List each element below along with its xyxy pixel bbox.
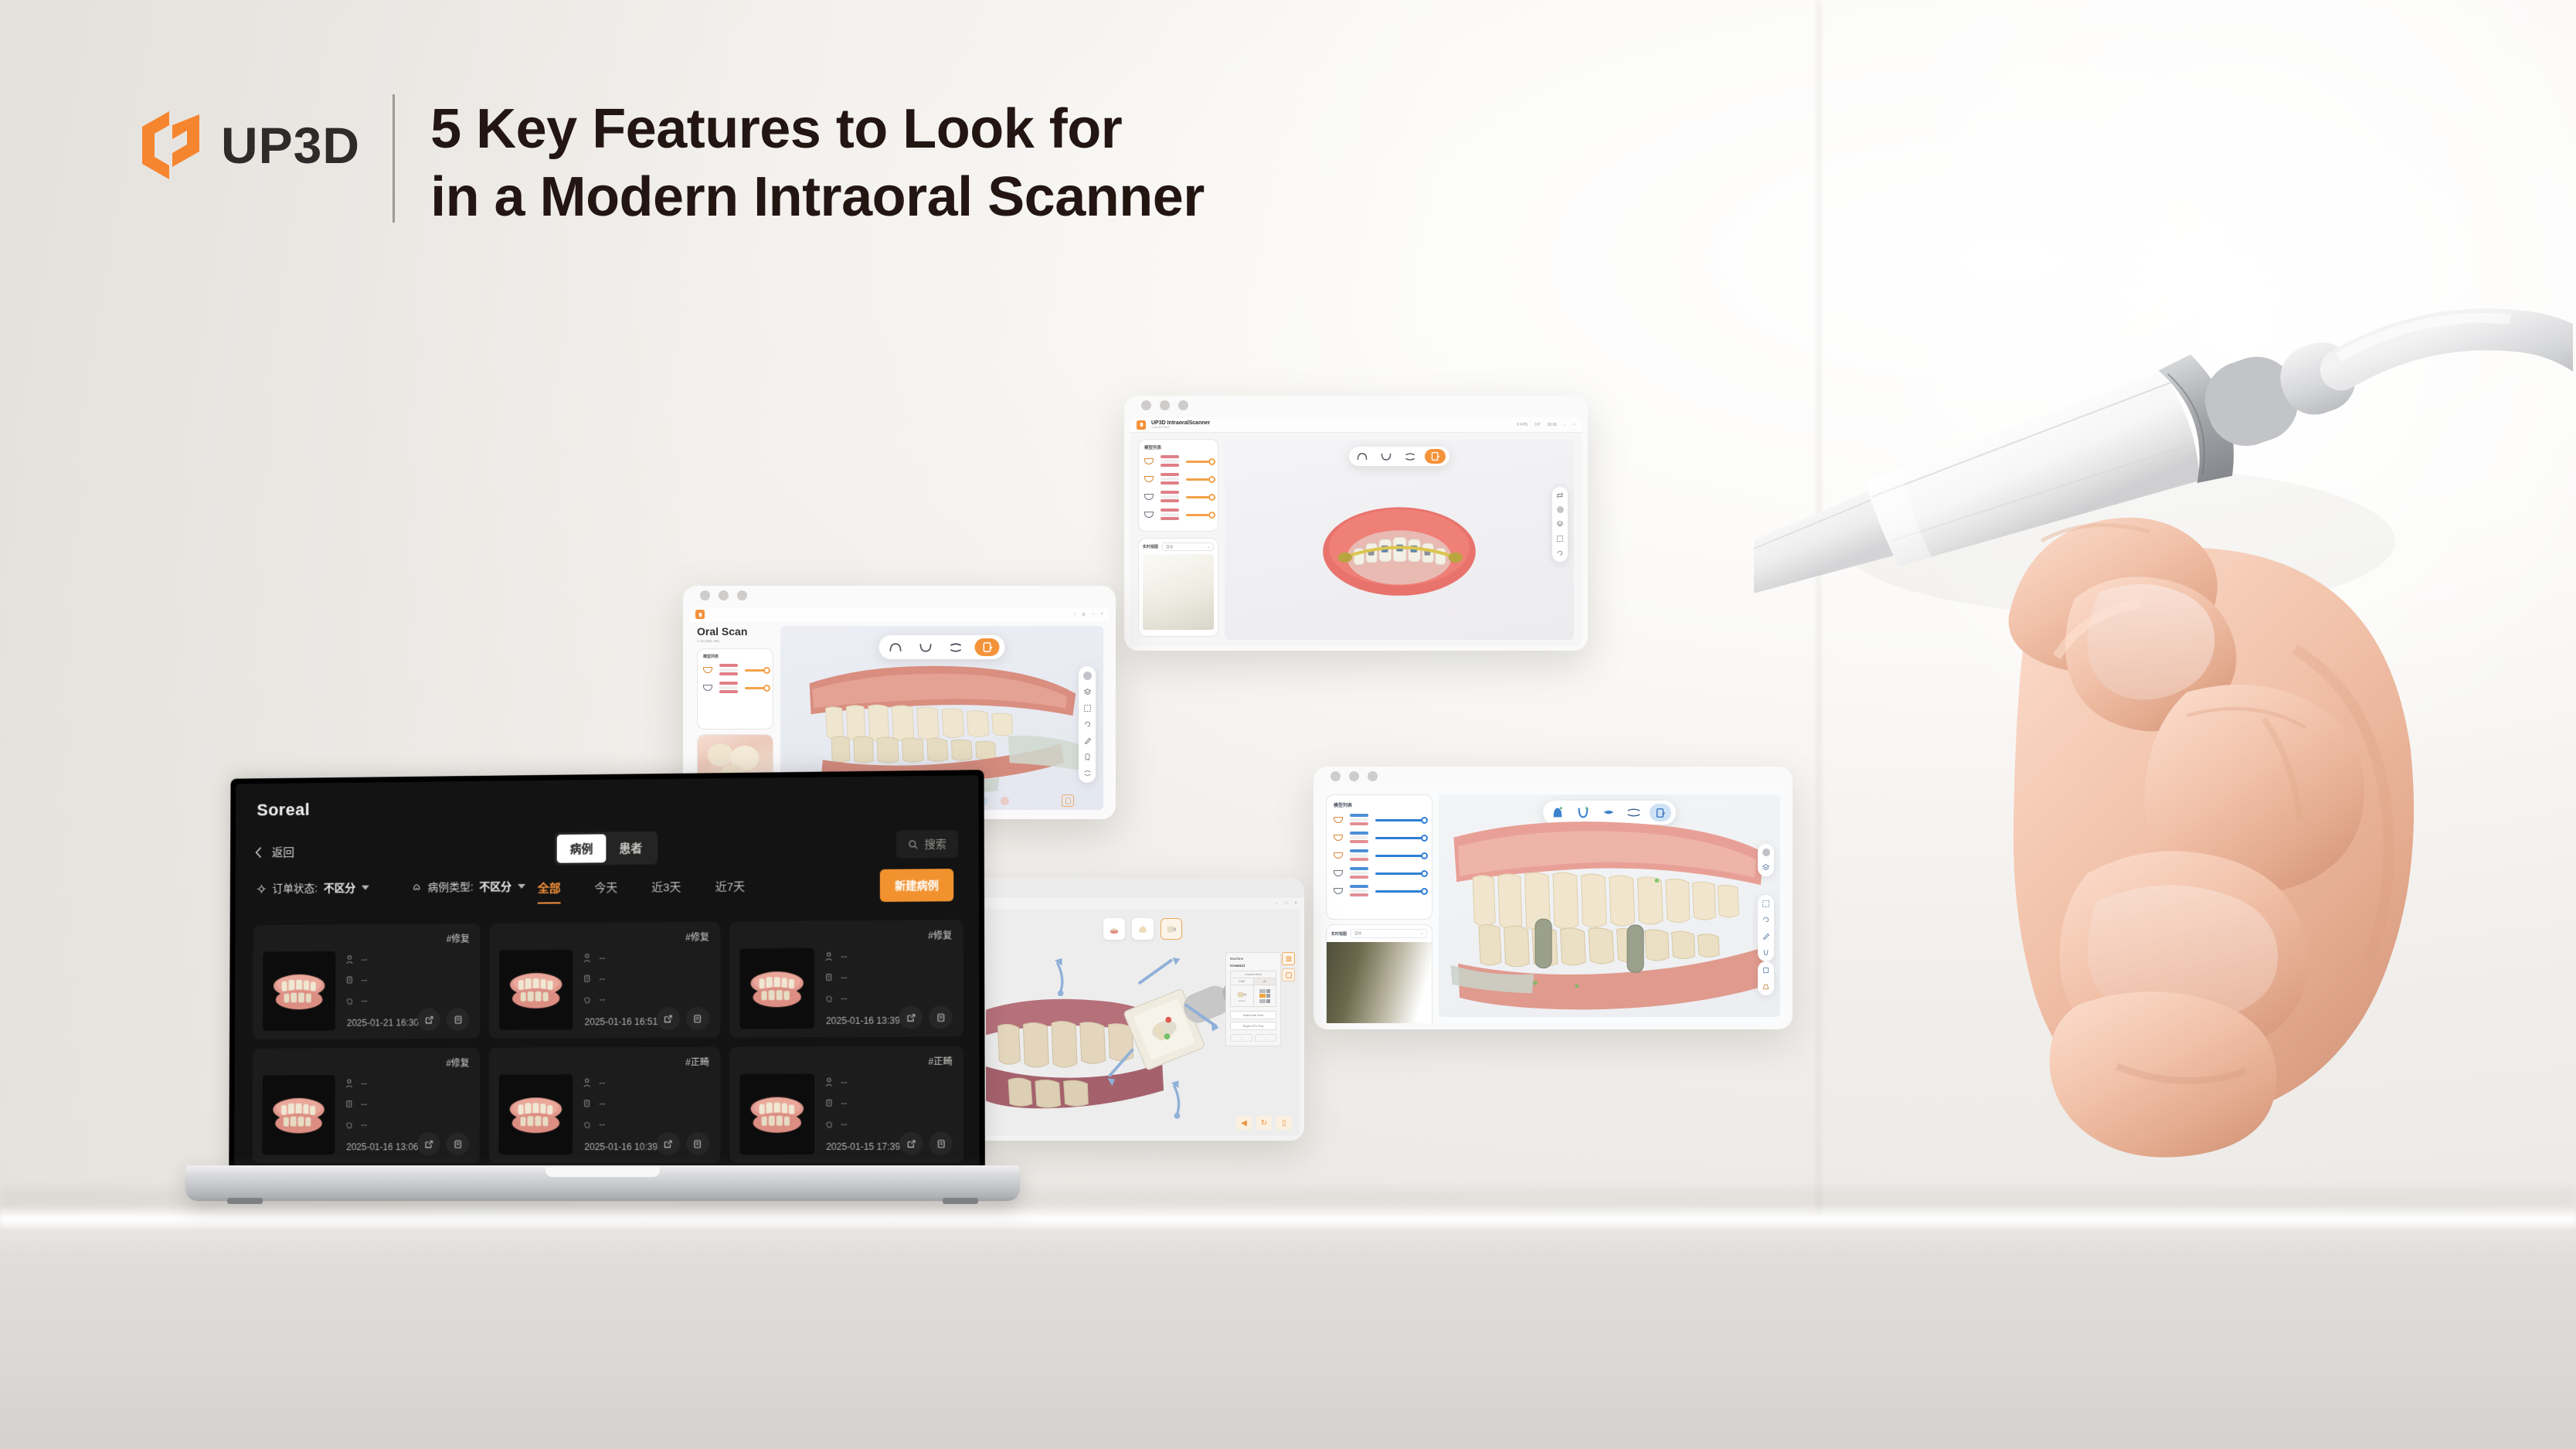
patient-icon (345, 955, 354, 964)
window-maximize-dot[interactable] (1178, 400, 1188, 410)
blue-model-list-title: 模型列表 (1334, 801, 1425, 808)
patient-icon (345, 1079, 353, 1088)
scanner-model-list-title: 模型列表 (1144, 444, 1212, 451)
model-opacity-row[interactable] (1334, 832, 1425, 844)
order-status-icon (257, 883, 267, 893)
tooth-icon (345, 1121, 353, 1130)
dentition-3d-model (1439, 794, 1780, 1017)
case-thumbnail (262, 1075, 335, 1155)
model-opacity-row[interactable] (1144, 491, 1212, 503)
opacity-slider[interactable] (1186, 514, 1212, 516)
range-tab-today[interactable]: 今天 (594, 879, 617, 903)
case-report-icon[interactable] (447, 1008, 470, 1031)
case-patient-row: -- (345, 1078, 470, 1089)
case-tag: #修复 (928, 928, 952, 941)
patient-icon (824, 1077, 833, 1087)
scanner-window-titlebar[interactable] (1124, 396, 1588, 414)
scanner-preview-select[interactable]: 自动 ⌄ (1162, 543, 1214, 551)
case-patient-value: -- (600, 953, 606, 964)
case-doctor-value: -- (600, 973, 606, 984)
soreal-brand-logo: Soreal (257, 800, 310, 820)
patient-icon (583, 954, 592, 963)
case-note-value: -- (600, 994, 606, 1005)
visibility-eye-icon[interactable] (1334, 870, 1343, 876)
window-maximize-dot[interactable] (1368, 771, 1378, 781)
case-card[interactable]: #正畸------2025-01-15 17:39:11 (729, 1046, 963, 1162)
model-opacity-row[interactable] (1144, 455, 1212, 468)
case-report-icon[interactable] (929, 1005, 953, 1029)
case-note-row: -- (345, 1119, 470, 1130)
doctor-icon (583, 975, 592, 984)
case-actions[interactable] (657, 1007, 709, 1030)
case-card[interactable]: #修复------2025-01-16 13:39:28 (729, 920, 963, 1037)
tooth-icon (345, 996, 354, 1005)
arch-chip-icon (1161, 509, 1179, 521)
filter-order-status[interactable]: 订单状态: 不区分 (257, 880, 369, 896)
segment-patients[interactable]: 患者 (606, 834, 655, 862)
arch-chip-icon (1161, 491, 1179, 503)
case-patient-row: -- (824, 1077, 953, 1088)
laptop-foot-right (943, 1198, 978, 1204)
blue-model-rows[interactable] (1334, 814, 1425, 897)
export-report-icon[interactable] (1062, 794, 1074, 807)
cad-list-tab-icon[interactable] (1282, 952, 1295, 965)
shading-ball-icon[interactable] (1557, 506, 1564, 513)
cad-crown-preview: Crown (1231, 985, 1254, 1006)
case-doctor-row: -- (345, 975, 471, 986)
case-card[interactable]: #修复------2025-01-21 16:30:50 (253, 923, 481, 1039)
window-close-dot[interactable] (700, 590, 710, 600)
arch-chip-icon (1350, 885, 1368, 897)
window-minimize-button[interactable]: − (1564, 423, 1566, 427)
visibility-eye-icon[interactable] (1144, 512, 1154, 518)
laptop-device: Soreal 返回 病例 患者 搜索 (185, 773, 1020, 1206)
tooth-icon (583, 1120, 591, 1129)
case-thumbnail (739, 1073, 814, 1155)
open-case-icon[interactable] (417, 1132, 440, 1155)
filter-order-status-label: 订单状态: (272, 880, 318, 896)
layers-icon[interactable] (1556, 520, 1564, 528)
case-actions[interactable] (418, 1008, 470, 1031)
visibility-eye-icon[interactable] (1334, 835, 1343, 841)
visibility-eye-icon[interactable] (1334, 817, 1343, 823)
opacity-slider[interactable] (1375, 819, 1425, 821)
marquee-select-icon[interactable] (1083, 704, 1092, 713)
tooth-tool-icon[interactable] (1083, 753, 1092, 761)
visibility-eye-icon[interactable] (1144, 494, 1154, 500)
case-patient-value: -- (841, 1077, 847, 1087)
cad-mode-ai[interactable]: AI (1254, 978, 1276, 985)
intraoral-scanner-wand (1754, 286, 2573, 1167)
tooth-icon (583, 995, 592, 1004)
view-mode-segmented-control[interactable]: 病例 患者 (555, 832, 658, 866)
model-opacity-row[interactable] (1144, 509, 1212, 521)
page-title: 5 Key Features to Look for in a Modern I… (430, 91, 1205, 232)
scanner-3d-viewport[interactable] (1225, 439, 1574, 640)
case-type-icon (412, 883, 422, 893)
cad-crown-preview-label: Crown (1239, 999, 1246, 1002)
chevron-down-icon: ⌄ (1420, 931, 1423, 936)
case-patient-row: -- (345, 954, 471, 965)
case-actions[interactable] (657, 1132, 709, 1155)
oral-scan-header: i ⚙ − × (689, 607, 1110, 621)
doctor-icon (345, 1100, 353, 1109)
scanner-app-body: UP3D IntraoralScanner 1.24.0271617 0 FPS… (1130, 417, 1582, 646)
case-doctor-row: -- (345, 1098, 470, 1109)
visibility-eye-icon[interactable] (1144, 476, 1154, 482)
scanner-cable (2194, 286, 2573, 495)
layers-icon[interactable] (1083, 688, 1092, 696)
doctor-icon (583, 1099, 591, 1108)
laptop-screen[interactable]: Soreal 返回 病例 患者 搜索 (229, 770, 985, 1168)
arch-chip-icon (1350, 814, 1368, 826)
search-input[interactable]: 搜索 (896, 830, 958, 859)
case-patient-value: -- (361, 1078, 367, 1089)
tooth-icon (824, 1120, 833, 1129)
case-doctor-row: -- (583, 973, 710, 985)
visibility-eye-icon[interactable] (1144, 458, 1154, 464)
visibility-eye-icon[interactable] (1334, 888, 1343, 894)
case-note-value: -- (599, 1119, 605, 1130)
blue-scan-window[interactable]: 模型列表 实时视图 自动 ⌄ (1313, 767, 1793, 1029)
chevron-left-icon (255, 847, 262, 859)
articulator-icon[interactable] (1083, 769, 1092, 777)
cad-right-panel[interactable]: Machine Crown21 ceramic block CAD AI Cro… (1225, 952, 1281, 1046)
open-case-icon[interactable] (899, 1005, 923, 1029)
scanner-window[interactable]: UP3D IntraoralScanner 1.24.0271617 0 FPS… (1124, 396, 1588, 651)
range-tab-all[interactable]: 全部 (538, 880, 561, 904)
model-opacity-row[interactable] (1334, 885, 1425, 897)
case-tag: #修复 (685, 930, 709, 944)
case-note-row: -- (583, 1119, 709, 1130)
segment-cases[interactable]: 病例 (557, 834, 607, 862)
patient-icon (583, 1078, 592, 1087)
case-card[interactable]: #正畸------2025-01-16 10:39:54 (489, 1047, 720, 1163)
case-tag: #正畸 (685, 1056, 709, 1069)
case-thumbnail (263, 951, 335, 1031)
case-report-icon[interactable] (447, 1132, 470, 1155)
scanner-timer: 00:00 (1548, 423, 1558, 427)
case-report-icon[interactable] (686, 1007, 709, 1030)
braces-arch-3d-model (1225, 439, 1574, 640)
opacity-slider[interactable] (1186, 496, 1212, 498)
soreal-app[interactable]: Soreal 返回 病例 患者 搜索 (234, 775, 980, 1168)
case-doctor-value: -- (362, 975, 368, 985)
case-thumbnail (739, 948, 814, 1029)
case-doctor-row: -- (583, 1098, 709, 1109)
case-note-row: -- (824, 992, 953, 1004)
search-placeholder: 搜索 (924, 836, 946, 852)
prev-step-icon[interactable]: ← (1230, 1034, 1252, 1042)
window-close-button[interactable]: × (1294, 901, 1297, 906)
case-note-row: -- (345, 995, 471, 1006)
arch-chip-icon (719, 682, 738, 694)
case-report-icon[interactable] (686, 1132, 709, 1155)
filter-bar[interactable]: 订单状态: 不区分 病例类型: 不区分 (257, 879, 525, 896)
cad-right-panel-item: Crown21 (1230, 964, 1276, 968)
window-close-button[interactable]: × (1573, 423, 1575, 427)
cad-action-button[interactable]: Insert Axis Zero (1230, 1011, 1276, 1019)
case-actions[interactable] (899, 1005, 952, 1029)
scanner-app-header: UP3D IntraoralScanner 1.24.0271617 0 FPS… (1130, 417, 1582, 433)
info-icon[interactable]: i (1074, 612, 1075, 617)
cad-detail-tab-icon[interactable] (1282, 968, 1295, 981)
window-close-dot[interactable] (1330, 771, 1341, 781)
back-label: 返回 (272, 844, 294, 860)
cad-right-panel-buttons[interactable]: Insert Axis ZeroExport STL Pos (1230, 1011, 1276, 1030)
filter-order-status-value: 不区分 (324, 880, 355, 896)
up3d-hexagon-logo-icon (138, 108, 204, 182)
date-range-tabs[interactable]: 全部 今天 近3天 近7天 (538, 878, 745, 903)
scanner-model-rows[interactable] (1144, 455, 1212, 521)
filter-case-type-label: 病例类型: (427, 879, 473, 895)
case-grid[interactable]: #修复------2025-01-21 16:30:50#修复------202… (252, 920, 964, 1168)
opacity-slider[interactable] (745, 669, 767, 672)
case-tag: #修复 (447, 932, 470, 945)
case-patient-value: -- (362, 954, 368, 965)
chevron-down-icon (518, 884, 525, 889)
window-minimize-dot[interactable] (1160, 400, 1170, 410)
model-opacity-row[interactable] (1144, 473, 1212, 485)
desk-edge-highlight (0, 1206, 2576, 1229)
arch-chip-icon (719, 664, 738, 676)
scanner-preview-value: 自动 (1166, 545, 1173, 549)
model-opacity-row[interactable] (1334, 849, 1425, 862)
blue-preview-label: 实时视图 (1331, 931, 1347, 937)
model-opacity-row[interactable] (1334, 867, 1425, 879)
case-patient-value: -- (841, 951, 847, 962)
case-note-row: -- (824, 1118, 953, 1129)
oral-scan-titlebar[interactable] (683, 586, 1116, 604)
marquee-select-icon[interactable] (1556, 535, 1564, 543)
case-actions[interactable] (417, 1132, 469, 1155)
laptop-foot-left (227, 1198, 263, 1204)
case-note-value: -- (361, 1119, 367, 1130)
open-case-icon[interactable] (899, 1132, 923, 1155)
open-case-icon[interactable] (657, 1132, 680, 1155)
folder-icon[interactable]: ▯ (1276, 1116, 1292, 1130)
cad-mode-cad[interactable]: CAD (1231, 978, 1254, 985)
next-step-icon[interactable]: → (1255, 1034, 1277, 1042)
blue-live-preview (1327, 942, 1432, 1023)
blue-preview-select[interactable]: 自动 ⌄ (1351, 929, 1427, 938)
arch-chip-icon (1161, 473, 1179, 485)
header: UP3D 5 Key Features to Look for in a Mod… (138, 91, 1205, 232)
settings-icon[interactable]: ⚙ (1082, 612, 1086, 617)
case-note-row: -- (583, 994, 710, 1005)
window-maximize-button[interactable]: □ (1285, 901, 1288, 906)
arch-chip-icon (1350, 832, 1368, 844)
rotate-icon[interactable]: ↻ (1256, 1116, 1272, 1130)
headline-line-1: 5 Key Features to Look for (430, 96, 1205, 164)
case-doctor-row: -- (824, 971, 953, 983)
case-patient-value: -- (599, 1077, 605, 1088)
doctor-icon (345, 975, 354, 985)
lasso-select-icon[interactable] (1083, 720, 1092, 729)
blue-model-list-panel[interactable]: 模型列表 (1326, 794, 1432, 920)
scanner-app-version: 1.24.0271617 (1151, 426, 1210, 429)
app-logo-icon (1137, 420, 1146, 430)
oral-scan-model-rows[interactable] (703, 664, 767, 694)
case-doctor-value: -- (361, 1099, 367, 1110)
doctor-icon (824, 973, 833, 982)
opacity-slider[interactable] (1186, 478, 1212, 481)
header-divider (393, 94, 395, 223)
model-opacity-row[interactable] (1334, 814, 1425, 826)
doctor-icon (824, 1098, 833, 1107)
shading-ball-icon[interactable] (1083, 672, 1092, 680)
case-patient-row: -- (583, 1077, 710, 1088)
brush-tool-icon[interactable] (1083, 736, 1092, 745)
hand-holding-scanner (2009, 518, 2415, 1158)
headline-line-2: in a Modern Intraoral Scanner (430, 164, 1205, 232)
arch-chip-icon (1161, 455, 1179, 468)
brand-logo: UP3D (138, 91, 360, 182)
open-case-icon[interactable] (657, 1007, 680, 1030)
case-patient-row: -- (583, 952, 710, 964)
blue-preview-value: 自动 (1354, 931, 1361, 936)
visibility-eye-icon[interactable] (703, 667, 712, 673)
window-minimize-button[interactable]: − (1275, 901, 1278, 906)
oral-scan-title: Oral Scan (697, 626, 773, 638)
cad-nav-buttons[interactable]: ◀↻▯ (1236, 1116, 1292, 1130)
visibility-eye-icon[interactable] (1334, 852, 1343, 859)
cad-right-tabs[interactable] (1282, 952, 1295, 981)
range-tab-3days[interactable]: 近3天 (651, 879, 681, 903)
cad-step-controls[interactable]: ← → (1230, 1034, 1276, 1042)
oral-scan-version: 1.13.1051.036 (697, 639, 773, 643)
blue-3d-viewport[interactable] (1439, 794, 1780, 1017)
blue-window-titlebar[interactable] (1313, 767, 1793, 785)
arch-chip-icon (1350, 867, 1368, 879)
blue-window-body: 模型列表 实时视图 自动 ⌄ (1321, 788, 1785, 1023)
filter-case-type[interactable]: 病例类型: 不区分 (412, 879, 525, 895)
case-card[interactable]: #修复------2025-01-16 16:51:35 (489, 922, 720, 1039)
search-icon (908, 839, 918, 849)
chevron-down-icon (362, 886, 369, 890)
oral-scan-side-rail[interactable] (1079, 666, 1096, 783)
chevron-down-icon: ⌄ (1207, 545, 1210, 549)
case-doctor-row: -- (824, 1097, 953, 1108)
window-minimize-dot[interactable] (1349, 771, 1359, 781)
model-opacity-row[interactable] (703, 664, 767, 676)
case-doctor-value: -- (841, 972, 847, 983)
open-case-icon[interactable] (418, 1008, 441, 1031)
new-case-button[interactable]: 新建病例 (880, 869, 953, 902)
oral-scan-model-list-title: 模型列表 (703, 654, 767, 659)
desk-surface (0, 1215, 2576, 1449)
brand-wordmark: UP3D (221, 120, 360, 171)
tooth-icon (824, 994, 833, 1003)
visibility-eye-icon[interactable] (703, 685, 712, 691)
case-thumbnail (499, 1074, 573, 1155)
window-close-dot[interactable] (1141, 400, 1151, 410)
laptop-trackpad-notch (545, 1167, 660, 1177)
patient-icon (824, 952, 833, 961)
opacity-slider[interactable] (1186, 461, 1212, 463)
range-tab-7days[interactable]: 近7天 (715, 878, 745, 902)
arch-chip-icon (1350, 849, 1368, 862)
window-close-button[interactable]: × (1100, 612, 1103, 617)
case-doctor-value: -- (599, 1098, 605, 1109)
scanner-model-list-panel[interactable]: 模型列表 (1138, 439, 1218, 532)
opacity-slider[interactable] (1375, 890, 1425, 893)
opacity-slider[interactable] (1375, 855, 1425, 857)
case-patient-row: -- (824, 951, 953, 962)
cad-right-panel-title: Machine (1230, 957, 1276, 961)
opacity-slider[interactable] (745, 687, 767, 689)
case-report-icon[interactable] (929, 1132, 953, 1155)
scanner-live-preview (1143, 554, 1214, 630)
scanner-fps: 0 FPS (1517, 423, 1528, 427)
filter-case-type-value: 不区分 (479, 879, 511, 894)
case-tag: #修复 (446, 1056, 469, 1070)
scanner-preview-panel[interactable]: 实时视图 自动 ⌄ (1138, 538, 1218, 637)
cad-3d-viewport[interactable]: Machine Crown21 ceramic block CAD AI Cro… (986, 909, 1300, 1136)
case-thumbnail (499, 950, 573, 1030)
opacity-slider[interactable] (1375, 837, 1425, 839)
case-note-value: -- (841, 1119, 847, 1130)
case-card[interactable]: #修复------2025-01-16 13:06:04 (253, 1048, 481, 1163)
laptop-base (185, 1165, 1020, 1201)
model-opacity-row[interactable] (703, 682, 767, 694)
window-minimize-dot[interactable] (719, 590, 729, 600)
window-maximize-dot[interactable] (737, 590, 747, 600)
scanner-storage: 0 P (1534, 423, 1541, 427)
oral-scan-model-list-panel[interactable]: 模型列表 (697, 648, 773, 730)
scanner-preview-label: 实时视图 (1143, 544, 1158, 549)
case-actions[interactable] (899, 1132, 953, 1155)
window-minimize-button[interactable]: − (1092, 612, 1095, 617)
app-logo-icon (695, 610, 705, 619)
back-button[interactable]: 返回 (255, 844, 294, 860)
back-arrow-icon[interactable]: ◀ (1236, 1116, 1252, 1130)
scanner-side-rail[interactable] (1552, 487, 1568, 562)
lasso-select-icon[interactable] (1556, 549, 1564, 557)
cad-action-button[interactable]: Export STL Pos (1230, 1022, 1276, 1030)
case-note-value: -- (361, 995, 367, 1006)
opacity-slider[interactable] (1375, 872, 1425, 875)
case-note-value: -- (841, 993, 847, 1004)
blue-preview-panel[interactable]: 实时视图 自动 ⌄ (1326, 924, 1432, 1023)
sync-view-icon[interactable] (1556, 492, 1564, 499)
cad-material-label: ceramic block (1230, 971, 1276, 978)
case-tag: #正畸 (928, 1055, 952, 1068)
cad-block-slots[interactable] (1254, 985, 1276, 1006)
case-doctor-value: -- (841, 1097, 847, 1108)
